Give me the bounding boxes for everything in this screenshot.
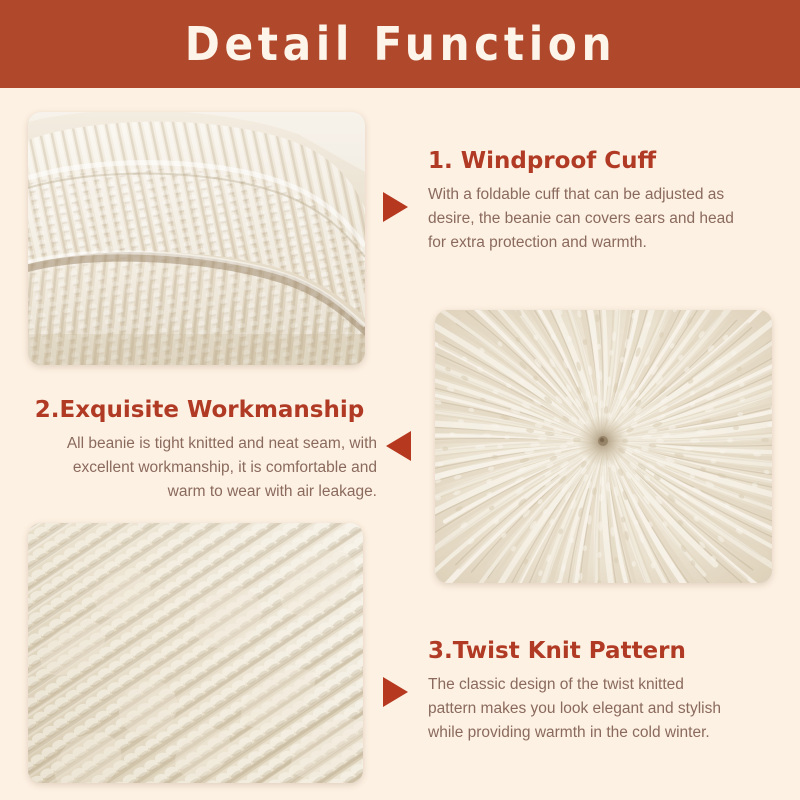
section-3-heading: 3.Twist Knit Pattern <box>428 638 773 664</box>
radial-knit-crown-illustration <box>435 310 772 583</box>
section-1-body-line: for extra protection and warmth. <box>428 231 773 255</box>
knit-cuff-illustration <box>28 112 365 365</box>
section-3-body-line: The classic design of the twist knitted <box>428 673 773 697</box>
section-1-body: With a foldable cuff that can be adjuste… <box>428 183 773 254</box>
section-3-body: The classic design of the twist knitted … <box>428 673 773 744</box>
section-1-body-line: desire, the beanie can covers ears and h… <box>428 207 773 231</box>
twist-cable-knit-illustration <box>28 523 363 783</box>
section-1-heading: 1. Windproof Cuff <box>428 148 773 174</box>
header-banner: Detail Function <box>0 0 800 88</box>
arrow-right-icon <box>383 192 408 222</box>
arrow-right-icon <box>383 677 408 707</box>
photo-knit-crown <box>435 310 772 583</box>
section-exquisite-workmanship: 2.Exquisite Workmanship All beanie is ti… <box>22 397 377 503</box>
arrow-left-icon <box>386 431 411 461</box>
section-2-body: All beanie is tight knitted and neat sea… <box>22 432 377 503</box>
section-2-heading: 2.Exquisite Workmanship <box>22 397 377 423</box>
page-title: Detail Function <box>184 21 615 67</box>
section-2-body-line: excellent workmanship, it is comfortable… <box>22 456 377 480</box>
section-2-body-line: warm to wear with air leakage. <box>22 480 377 504</box>
detail-function-infographic: Detail Function <box>0 0 800 800</box>
section-2-body-line: All beanie is tight knitted and neat sea… <box>22 432 377 456</box>
section-3-body-line: pattern makes you look elegant and styli… <box>428 697 773 721</box>
section-1-body-line: With a foldable cuff that can be adjuste… <box>428 183 773 207</box>
section-twist-knit-pattern: 3.Twist Knit Pattern The classic design … <box>428 638 773 744</box>
section-windproof-cuff: 1. Windproof Cuff With a foldable cuff t… <box>428 148 773 254</box>
photo-windproof-cuff <box>28 112 365 365</box>
section-3-body-line: while providing warmth in the cold winte… <box>428 721 773 745</box>
photo-twist-knit-pattern <box>28 523 363 783</box>
